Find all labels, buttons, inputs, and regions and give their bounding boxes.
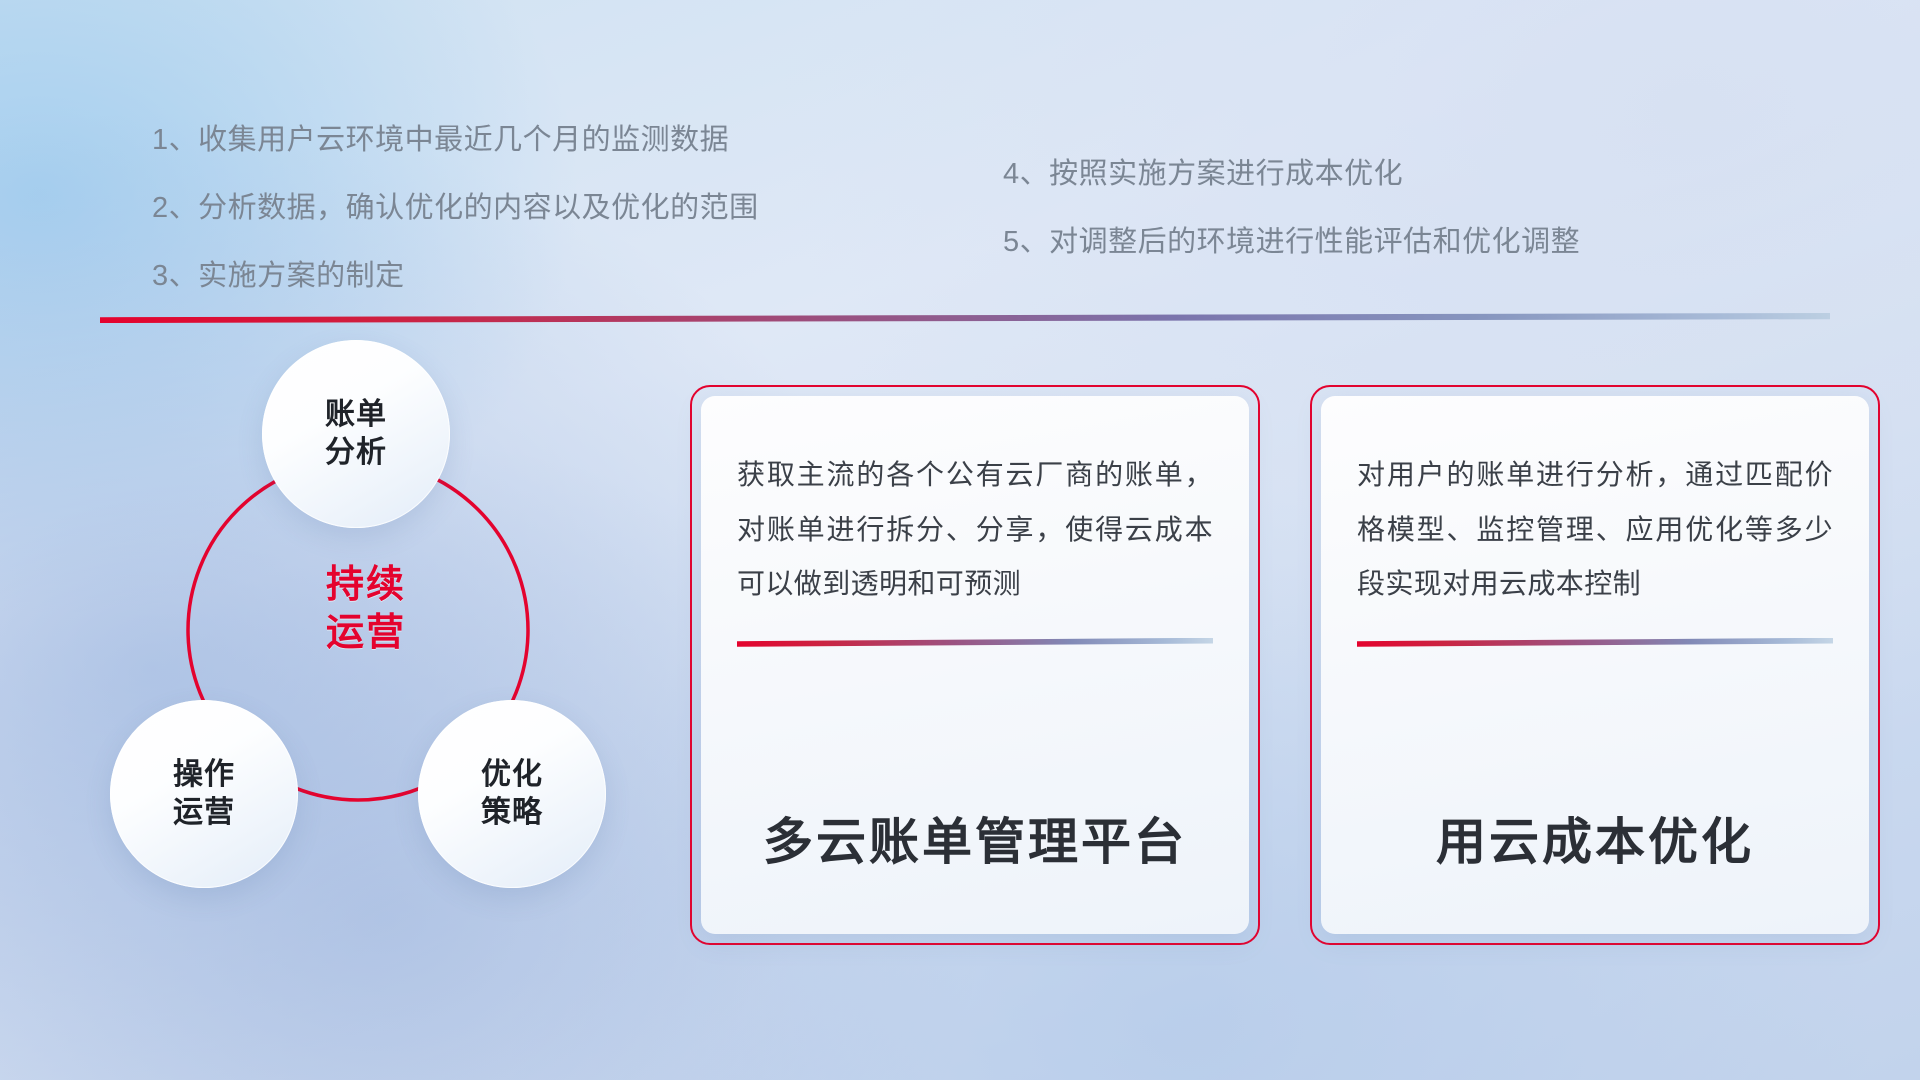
steps-list-left: 1、收集用户云环境中最近几个月的监测数据 2、分析数据，确认优化的内容以及优化的… [152,126,759,330]
cycle-center-line1: 持续 [296,562,436,610]
feature-card-multicloud-billing[interactable]: 获取主流的各个公有云厂商的账单，对账单进行拆分、分享，使得云成本可以做到透明和可… [690,385,1260,945]
card-title: 多云账单管理平台 [737,802,1213,908]
cycle-node-optimization-strategy[interactable]: 优化 策略 [418,700,606,888]
cycle-center-line2: 运营 [296,610,436,658]
cycle-node-billing-analysis[interactable]: 账单 分析 [262,340,450,528]
step-item-2: 2、分析数据，确认优化的内容以及优化的范围 [152,194,759,223]
cycle-diagram: 账单 分析 操作 运营 优化 策略 持续 运营 [100,340,660,960]
cycle-node-label-line2: 分析 [325,434,387,472]
cycle-node-operations[interactable]: 操作 运营 [110,700,298,888]
card-body-text: 获取主流的各个公有云厂商的账单，对账单进行拆分、分享，使得云成本可以做到透明和可… [737,448,1213,612]
step-item-1: 1、收集用户云环境中最近几个月的监测数据 [152,126,759,155]
steps-list-right: 4、按照实施方案进行成本优化 5、对调整后的环境进行性能评估和优化调整 [1003,160,1580,296]
cycle-node-label-line1: 操作 [173,756,235,794]
cycle-node-label-line1: 账单 [325,396,387,434]
card-inner: 对用户的账单进行分析，通过匹配价格模型、监控管理、应用优化等多少段实现对用云成本… [1321,396,1869,934]
slide-canvas: 1、收集用户云环境中最近几个月的监测数据 2、分析数据，确认优化的内容以及优化的… [0,0,1920,1080]
card-rule-divider [1357,638,1833,647]
cycle-node-label-line2: 运营 [173,794,235,832]
card-rule-divider [737,638,1213,647]
step-item-5: 5、对调整后的环境进行性能评估和优化调整 [1003,228,1580,257]
step-item-3: 3、实施方案的制定 [152,262,759,291]
feature-card-cloud-cost-optimization[interactable]: 对用户的账单进行分析，通过匹配价格模型、监控管理、应用优化等多少段实现对用云成本… [1310,385,1880,945]
card-body-text: 对用户的账单进行分析，通过匹配价格模型、监控管理、应用优化等多少段实现对用云成本… [1357,448,1833,612]
cycle-center-label: 持续 运营 [296,562,436,657]
card-inner: 获取主流的各个公有云厂商的账单，对账单进行拆分、分享，使得云成本可以做到透明和可… [701,396,1249,934]
card-title: 用云成本优化 [1357,802,1833,908]
cycle-node-label-line2: 策略 [481,794,543,832]
cycle-node-label-line1: 优化 [481,756,543,794]
step-item-4: 4、按照实施方案进行成本优化 [1003,160,1580,189]
